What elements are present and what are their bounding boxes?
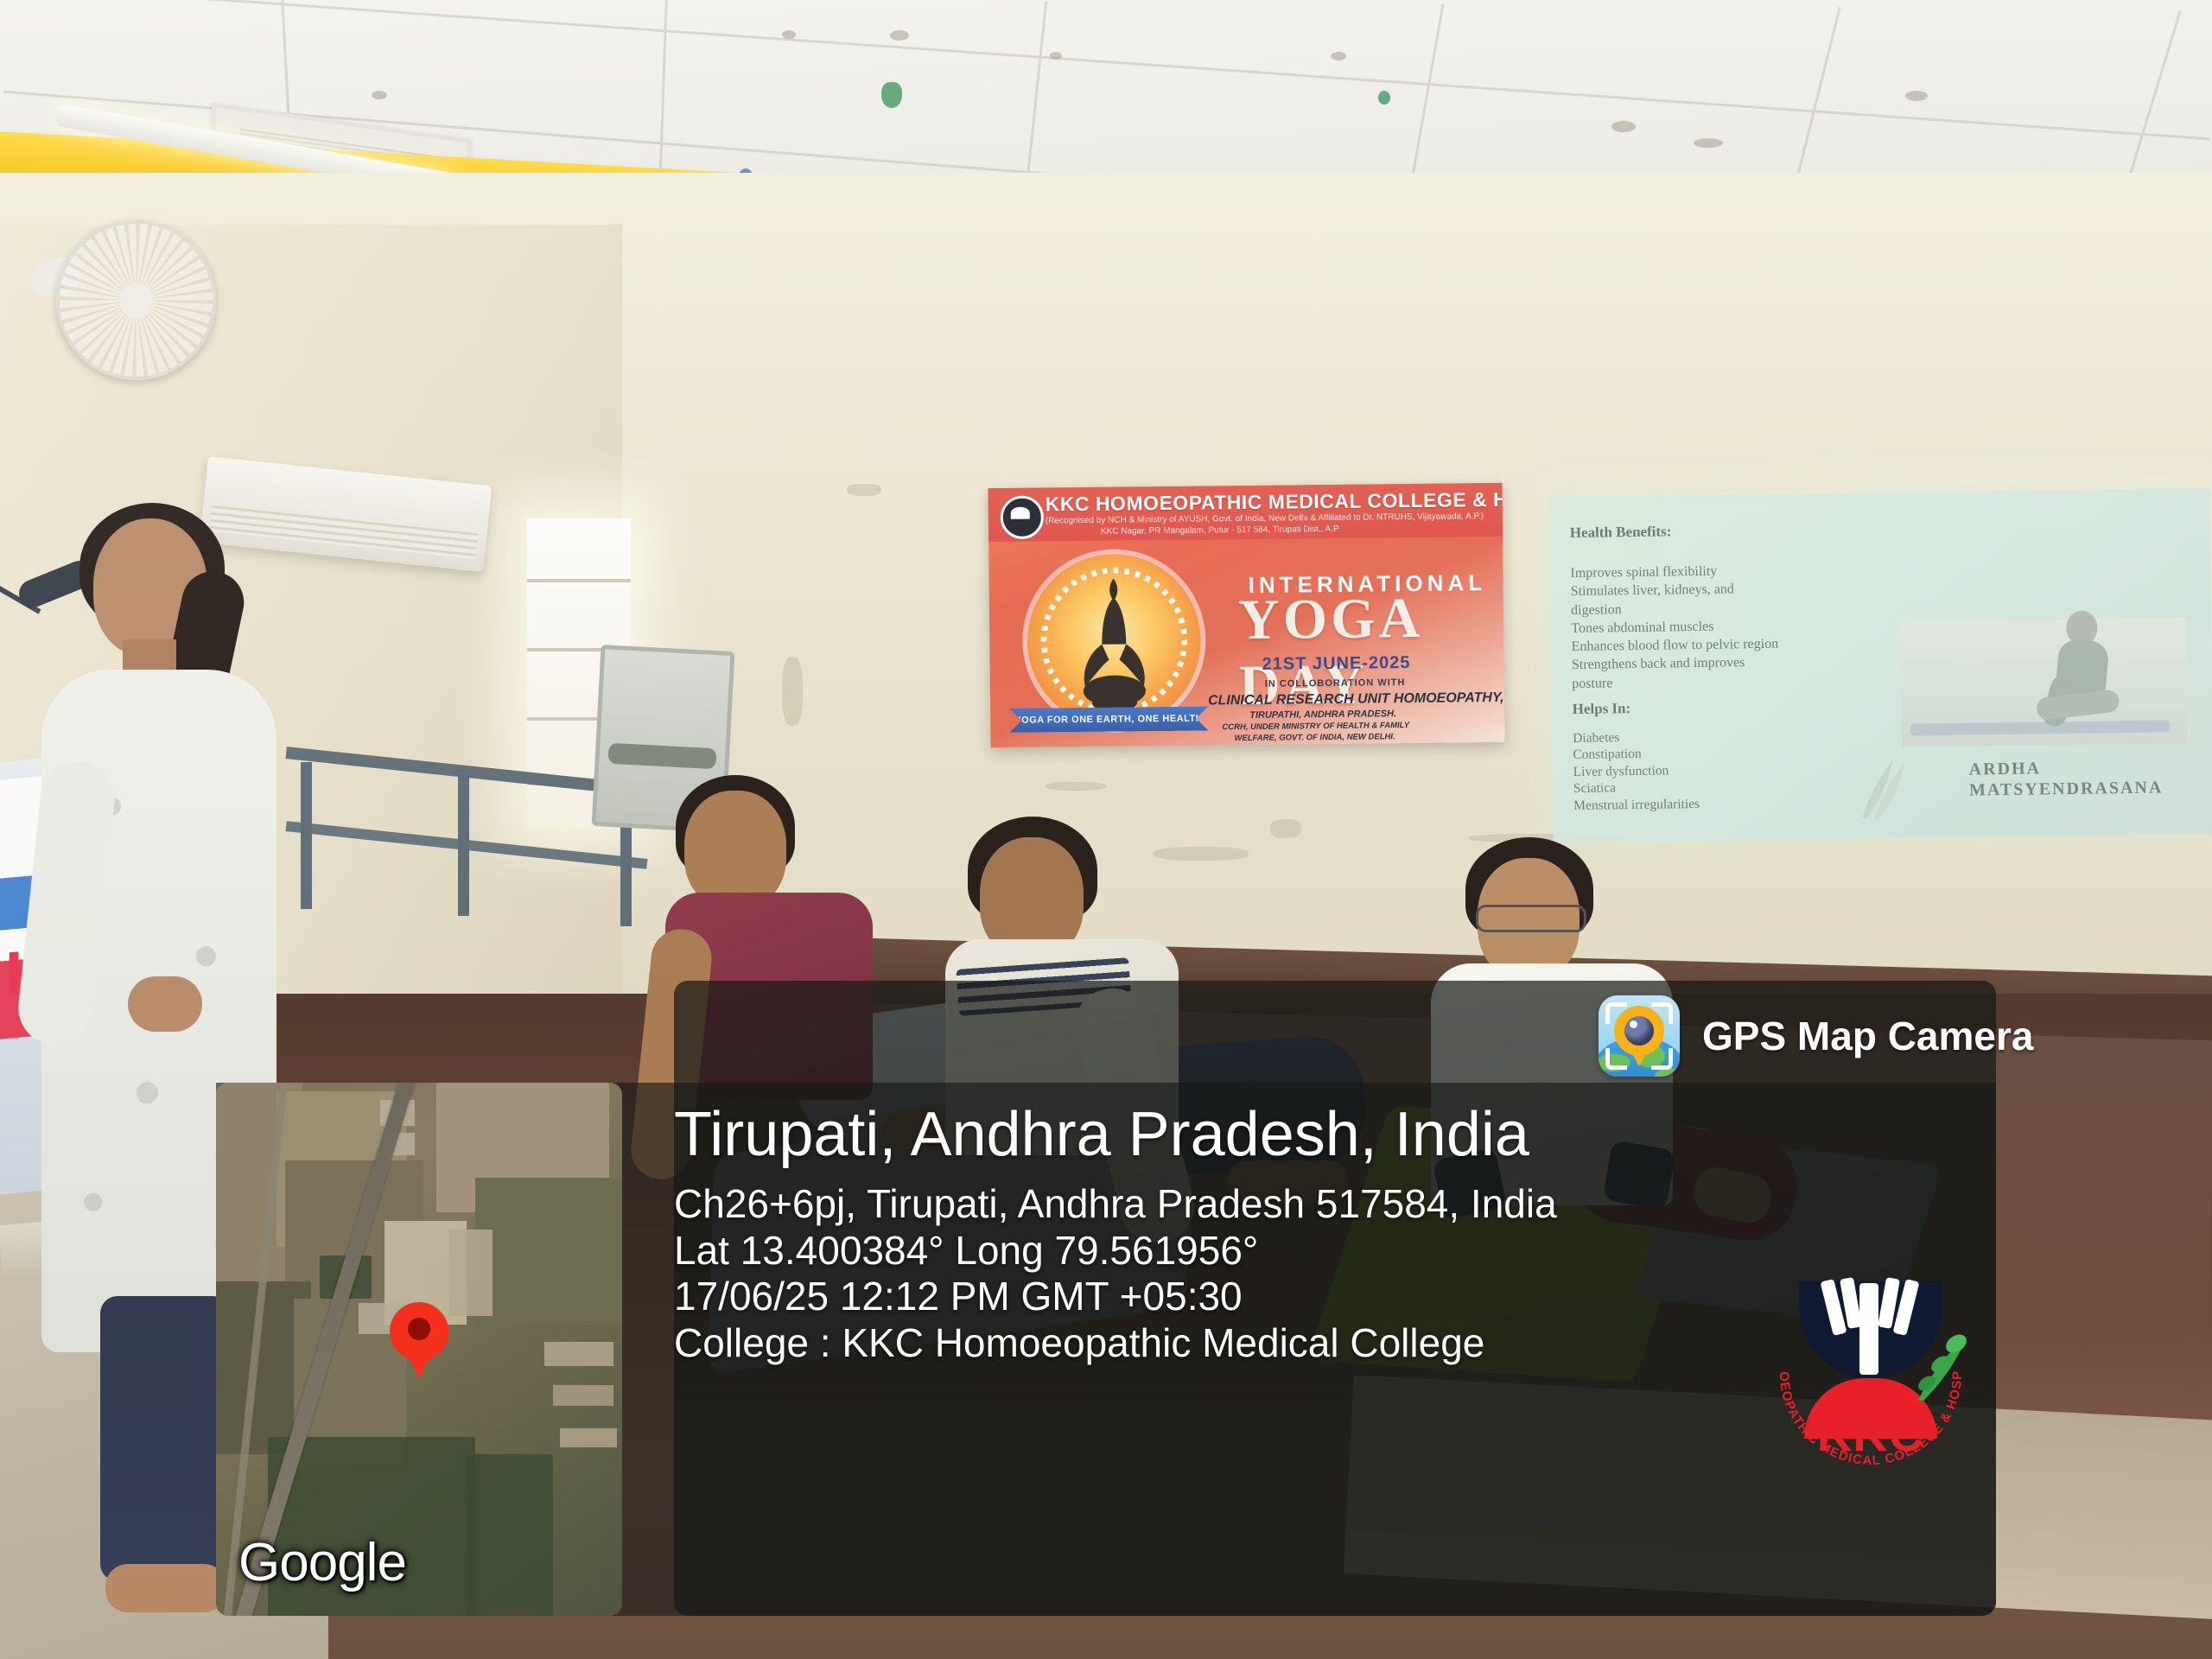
banner-collab-ministry-1: CCRH, UNDER MINISTRY OF HEALTH & FAMILY xyxy=(1222,721,1409,732)
slide-benefit-item: posture xyxy=(1572,671,1779,693)
banner-event-date: 21ST JUNE-2025 xyxy=(1262,653,1410,675)
ceiling-stain xyxy=(890,30,909,41)
slide-leaf-decoration xyxy=(1853,751,1914,821)
event-banner: KKC HOMOEOPATHIC MEDICAL COLLEGE & HOSPI… xyxy=(988,483,1504,747)
ceiling-green-mark xyxy=(881,82,902,108)
participant-1 xyxy=(665,782,925,1145)
eyeglasses xyxy=(1476,905,1586,932)
slide-condition-item: Constipation xyxy=(1573,745,1699,763)
banner-collab-city: TIRUPATHI, ANDHRA PRADESH. xyxy=(1249,709,1396,721)
ceiling-stain xyxy=(782,30,796,39)
slide-heading: Health Benefits: xyxy=(1570,523,1672,542)
slide-pose-photo xyxy=(1900,618,2187,747)
wall-mark xyxy=(847,484,881,496)
banner-collab-ministry-2: WELFARE, GOVT. OF INDIA, NEW DELHI. xyxy=(1234,732,1395,743)
slide-benefit-item: Enhances blood flow to pelvic region xyxy=(1572,635,1779,657)
photo-background: KKC HOMOEOPATHIC MEDICAL COLLEGE & HOSPI… xyxy=(0,0,2212,1659)
slide-pose-name: ARDHA MATSYENDRASANA xyxy=(1969,756,2164,800)
slide-condition-item: Diabetes xyxy=(1573,728,1699,747)
banner-college-logo xyxy=(1001,495,1045,539)
slide-condition-item: Sciatica xyxy=(1573,779,1700,797)
ceiling-stain xyxy=(1331,52,1346,60)
banner-sun-graphic xyxy=(1027,554,1201,728)
ceiling-stain xyxy=(1694,138,1723,148)
ceiling-green-mark xyxy=(1378,91,1390,105)
ceiling-stain xyxy=(1611,121,1636,132)
participant-3 xyxy=(1426,842,1737,1231)
ceiling-stain xyxy=(1050,52,1062,60)
slide-condition-item: Menstrual irregularities xyxy=(1573,795,1700,813)
ceiling-stain xyxy=(372,91,387,99)
participant-2 xyxy=(942,825,1287,1197)
projection-screen: Health Benefits: Improves spinal flexibi… xyxy=(1548,488,2212,843)
wall-mark xyxy=(1046,782,1106,791)
slide-conditions-list: Diabetes Constipation Liver dysfunction … xyxy=(1573,728,1700,814)
wall-fan xyxy=(56,220,216,380)
banner-collab-org: CLINICAL RESEARCH UNIT HOMOEOPATHY, xyxy=(1208,690,1504,709)
slide-benefits-list: Improves spinal flexibility Stimulates l… xyxy=(1570,562,1779,693)
ceiling-stain xyxy=(1905,91,1928,101)
slide-pose-figure xyxy=(2030,610,2126,741)
speaker-person xyxy=(26,518,311,1348)
screenshot-root: KKC HOMOEOPATHIC MEDICAL COLLEGE & HOSPI… xyxy=(0,0,2212,1659)
wall-mark xyxy=(782,657,803,726)
banner-tagline-ribbon: "YOGA FOR ONE EARTH, ONE HEALTH" xyxy=(1009,706,1208,732)
slide-condition-item: Liver dysfunction xyxy=(1573,762,1700,780)
yoga-figure-icon xyxy=(1070,571,1158,723)
banner-collab-label: IN COLLOBORATION WITH xyxy=(1265,677,1406,690)
slide-heading-2: Helps In: xyxy=(1573,700,1631,718)
